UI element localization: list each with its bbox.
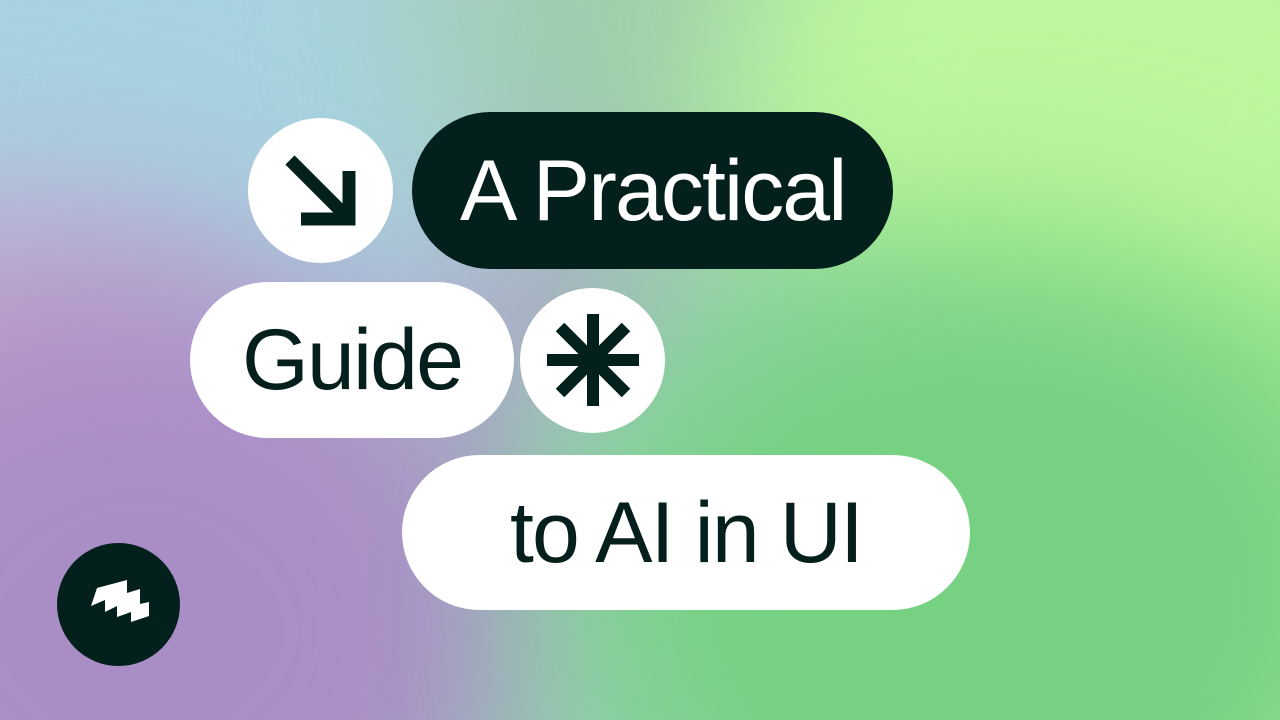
headline-pill-to-ai-in-ui: to AI in UI [402,455,970,610]
headline-pill-a-practical: A Practical [412,112,893,269]
arrow-down-right-icon [248,118,393,263]
headline-row-3: to AI in UI [402,455,970,610]
headline-row-1: A Practical [248,112,893,269]
lightning-bolt-logo-icon [83,572,155,638]
asterisk-icon [520,288,665,433]
headline-stack: A Practical Guide to AI in UI [0,0,1280,720]
brand-badge [57,543,180,666]
headline-pill-guide: Guide [190,282,514,438]
poster-canvas: A Practical Guide to AI in UI [0,0,1280,720]
headline-row-2: Guide [190,282,665,438]
